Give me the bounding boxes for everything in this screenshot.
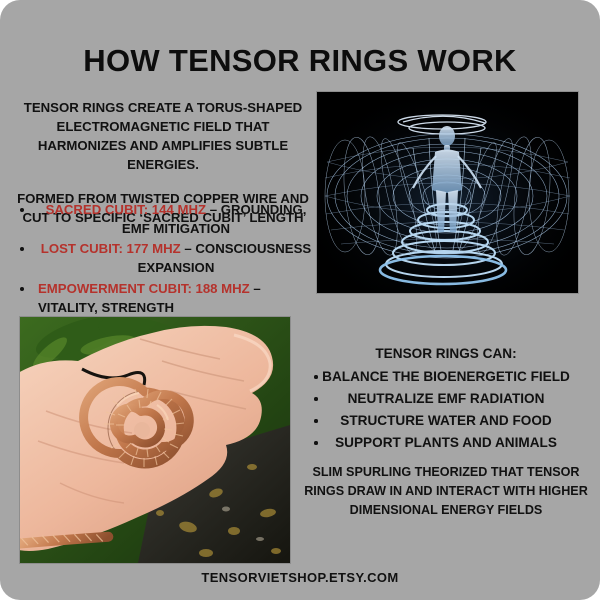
torus-wireframe-illustration (317, 92, 578, 293)
bullet-dot-icon (20, 208, 24, 212)
copper-tensor-ring-pendant-illustration (20, 317, 290, 563)
list-item: SACRED CUBIT: 144 MHZ – GROUNDING, EMF M… (14, 201, 314, 238)
benefit-label: NEUTRALIZE EMF RADIATION (348, 391, 545, 406)
list-item: LOST CUBIT: 177 MHZ – CONSCIOUSNESS EXPA… (14, 240, 314, 277)
footer-shop-url: TENSORVIETSHOP.ETSY.COM (0, 570, 600, 585)
list-item: SUPPORT PLANTS AND ANIMALS (300, 432, 592, 454)
intro-paragraph-1: TENSOR RINGS CREATE A TORUS-SHAPED ELECT… (14, 98, 312, 175)
page-title: HOW TENSOR RINGS WORK (0, 44, 600, 78)
bullet-dot-icon (314, 419, 318, 423)
benefit-label: SUPPORT PLANTS AND ANIMALS (335, 435, 557, 450)
list-item: NEUTRALIZE EMF RADIATION (300, 388, 592, 410)
bullet-dot-icon (314, 441, 318, 445)
cubit-name-frequency: LOST CUBIT: 177 MHZ (41, 241, 181, 256)
bullet-dot-icon (20, 247, 24, 251)
bullet-dot-icon (314, 375, 318, 379)
bullet-dot-icon (20, 287, 24, 291)
list-item: STRUCTURE WATER AND FOOD (300, 410, 592, 432)
list-item: BALANCE THE BIOENERGETIC FIELD (300, 366, 592, 388)
benefit-label: STRUCTURE WATER AND FOOD (340, 413, 551, 428)
list-item: EMPOWERMENT CUBIT: 188 MHZ – VITALITY, S… (14, 280, 314, 317)
cubit-frequency-list: SACRED CUBIT: 144 MHZ – GROUNDING, EMF M… (14, 201, 314, 319)
benefits-heading: TENSOR RINGS CAN: (300, 346, 592, 361)
benefit-label: BALANCE THE BIOENERGETIC FIELD (322, 369, 570, 384)
theory-note: SLIM SPURLING THEORIZED THAT TENSOR RING… (300, 463, 592, 520)
bullet-dot-icon (314, 397, 318, 401)
torus-field-image (317, 92, 578, 293)
pendant-photo (20, 317, 290, 563)
cubit-name-frequency: SACRED CUBIT: 144 MHZ (46, 202, 206, 217)
benefits-list: BALANCE THE BIOENERGETIC FIELD NEUTRALIZ… (300, 366, 592, 454)
cubit-name-frequency: EMPOWERMENT CUBIT: 188 MHZ (38, 281, 250, 296)
infographic-poster: HOW TENSOR RINGS WORK TENSOR RINGS CREAT… (0, 0, 600, 600)
